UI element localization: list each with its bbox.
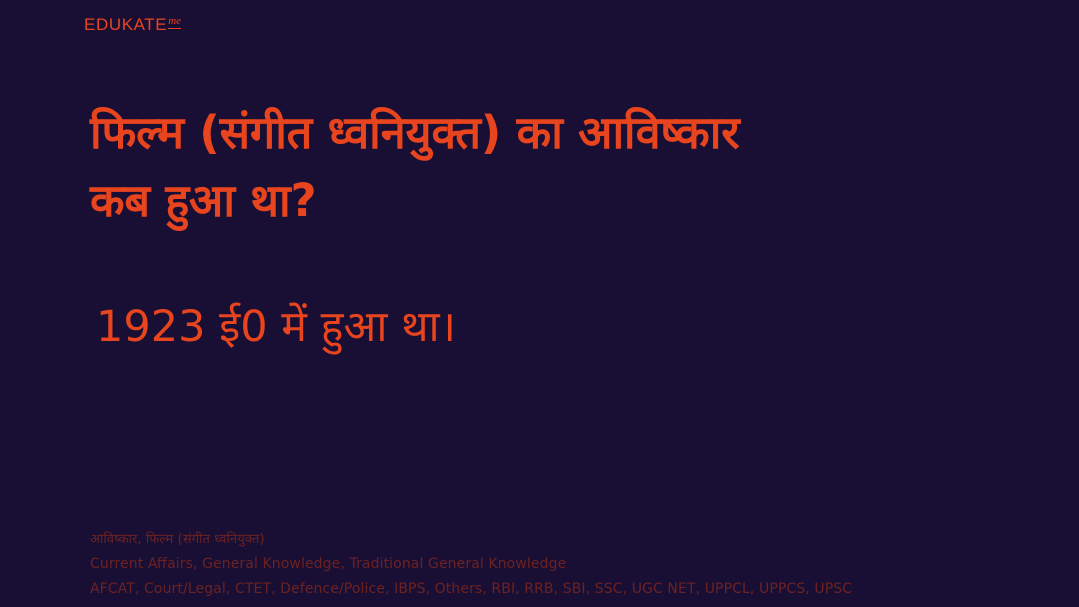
footer-tags: आविष्कार, फिल्म (संगीत ध्वनियुक्त) Curre… <box>90 527 1070 602</box>
question-line-2: कब हुआ था? <box>90 167 990 235</box>
question-heading: फिल्म (संगीत ध्वनियुक्त) का आविष्कार कब … <box>90 99 990 236</box>
corner-watermark: ··· ··· <box>1052 594 1073 603</box>
footer-tags-devanagari[interactable]: आविष्कार, फिल्म (संगीत ध्वनियुक्त) <box>90 527 1070 552</box>
brand-logo-word: EDUKATE <box>84 16 167 33</box>
brand-logo-suffix: me <box>168 16 181 29</box>
answer-text: 1923 ई0 में हुआ था। <box>96 300 456 356</box>
brand-logo[interactable]: EDUKATE me <box>84 16 181 33</box>
slide-canvas: EDUKATE me फिल्म (संगीत ध्वनियुक्त) का आ… <box>0 0 1079 607</box>
footer-categories[interactable]: Current Affairs, General Knowledge, Trad… <box>90 552 1070 577</box>
question-line-1: फिल्म (संगीत ध्वनियुक्त) का आविष्कार <box>90 99 990 167</box>
footer-exams[interactable]: AFCAT, Court/Legal, CTET, Defence/Police… <box>90 577 1070 602</box>
